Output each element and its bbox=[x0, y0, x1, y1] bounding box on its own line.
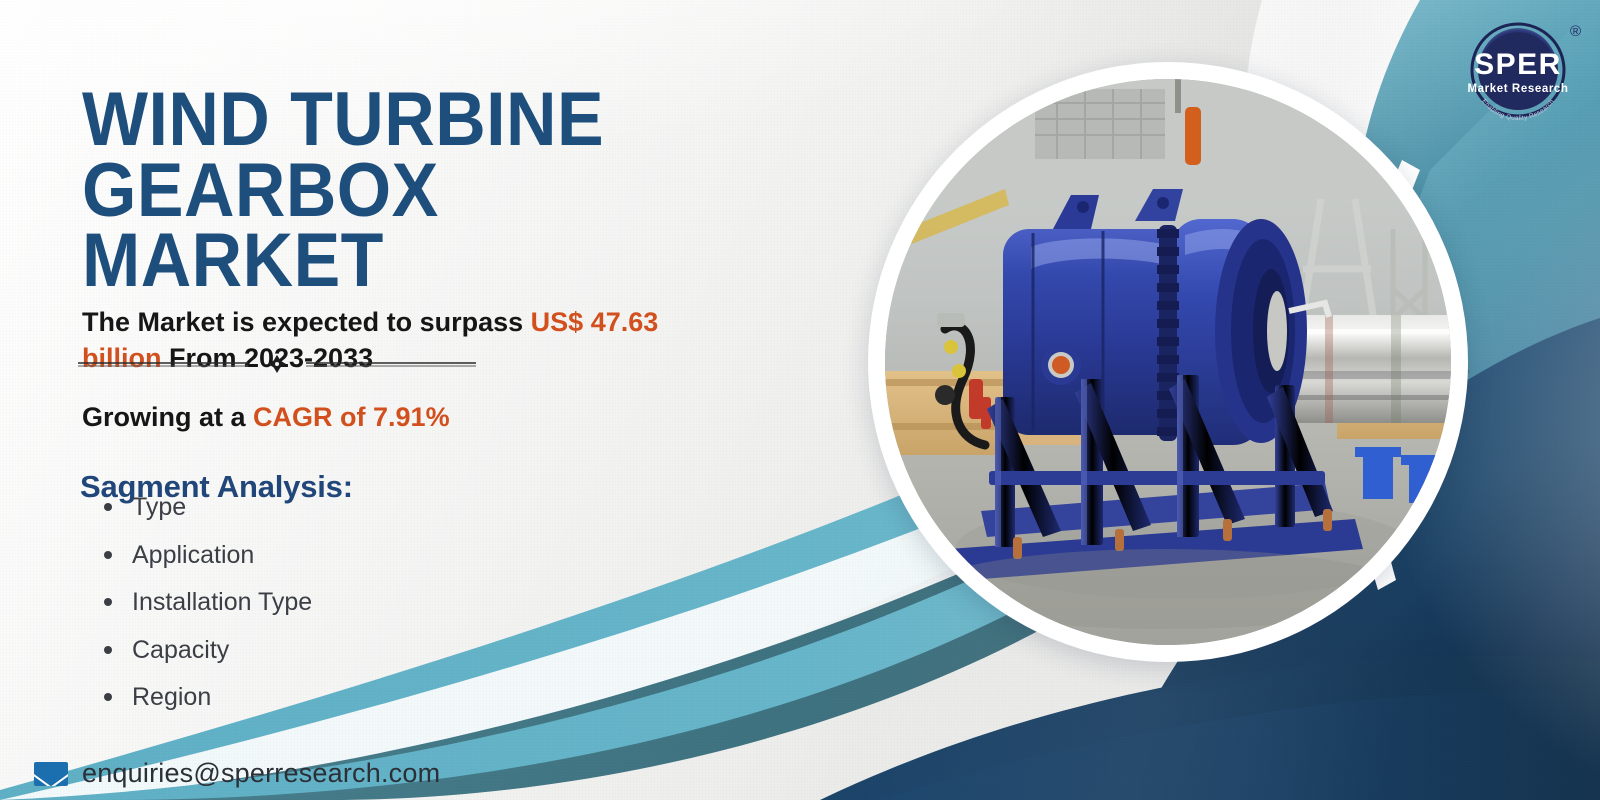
list-item: Region bbox=[96, 684, 312, 712]
ornamental-divider bbox=[78, 355, 476, 373]
sper-logo-mark: SPER Market Research Enabling Quality Re… bbox=[1452, 14, 1584, 122]
diamond-cross-ornament bbox=[268, 355, 286, 373]
envelope-icon bbox=[34, 762, 68, 786]
list-item: Application bbox=[96, 542, 312, 570]
title-line-2: MARKET bbox=[82, 218, 384, 303]
segment-label: Type bbox=[132, 493, 186, 521]
hero-photo-frame bbox=[868, 62, 1468, 662]
list-item: Installation Type bbox=[96, 589, 312, 617]
logo-wordmark: SPER bbox=[1474, 48, 1562, 81]
hero-photo bbox=[885, 79, 1451, 645]
registered-trademark-icon: ® bbox=[1570, 23, 1581, 40]
cagr-statement: Growing at a CAGR of 7.91% bbox=[82, 402, 722, 433]
cagr-value: CAGR of 7.91% bbox=[253, 402, 450, 432]
logo-tagline: Market Research bbox=[1467, 83, 1568, 95]
footer-contact: enquiries@sperresearch.com bbox=[34, 758, 440, 789]
segment-label: Region bbox=[132, 683, 211, 711]
subtitle-part-1: The Market is expected to surpass bbox=[82, 307, 531, 337]
list-item: Type bbox=[96, 494, 312, 522]
segment-label: Capacity bbox=[132, 636, 229, 664]
segment-analysis-list: Type Application Installation Type Capac… bbox=[96, 494, 312, 732]
sper-logo: SPER Market Research Enabling Quality Re… bbox=[1452, 14, 1584, 122]
cagr-prefix: Growing at a bbox=[82, 402, 253, 432]
page-title: WIND TURBINE GEARBOX MARKET bbox=[82, 85, 809, 297]
contact-email[interactable]: enquiries@sperresearch.com bbox=[82, 758, 440, 789]
list-item: Capacity bbox=[96, 637, 312, 665]
gearbox-illustration bbox=[885, 79, 1451, 645]
infographic-canvas: WIND TURBINE GEARBOX MARKET The Market i… bbox=[0, 0, 1600, 800]
segment-label: Application bbox=[132, 541, 254, 569]
title-line-1: WIND TURBINE GEARBOX bbox=[82, 77, 604, 233]
segment-label: Installation Type bbox=[132, 588, 312, 616]
